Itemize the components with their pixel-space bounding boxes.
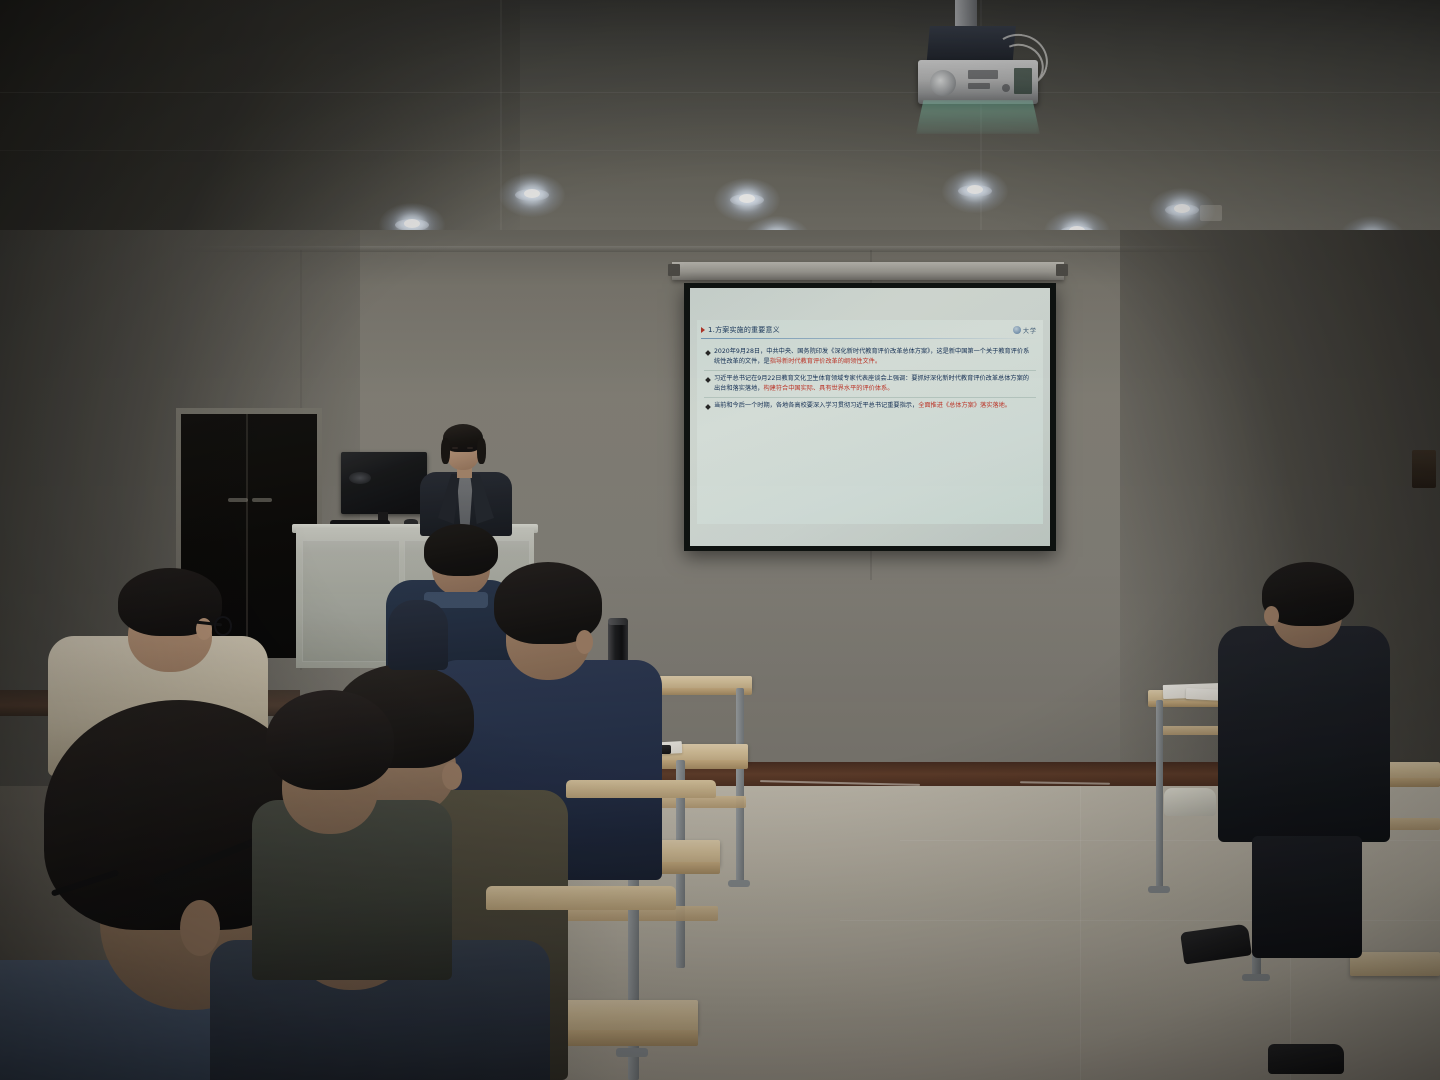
lecture-hall-photo: 1.方案实施的重要意义 大学 2020年9月28日，中共中央、国务院印发《深化新…: [0, 0, 1440, 1080]
ceiling-vent: [1200, 205, 1222, 221]
ceiling-light: [1165, 200, 1199, 216]
presentation-slide: 1.方案实施的重要意义 大学 2020年9月28日，中共中央、国务院印发《深化新…: [697, 320, 1043, 524]
door-handle[interactable]: [252, 498, 272, 502]
slide-header: 1.方案实施的重要意义 大学: [697, 320, 1043, 340]
slide-bullet: 当前和今后一个时期，各地各高校要深入学习贯彻习近平总书记重要指示，全面推进《总体…: [704, 398, 1036, 415]
ceiling-light: [515, 185, 549, 201]
slide-title: 1.方案实施的重要意义: [708, 325, 780, 335]
screen-housing: [672, 262, 1064, 280]
ceiling-light: [395, 215, 429, 231]
presenter-eye: [467, 447, 473, 449]
university-logo: 大学: [1013, 326, 1037, 335]
projector-lens: [930, 70, 956, 96]
slide-bullet-highlight: 指导新时代教育评价改革的纲领性文件。: [770, 358, 881, 365]
slide-bullet-highlight: 全面推进《总体方案》落实落地。: [918, 402, 1011, 409]
desk: [1350, 952, 1440, 976]
projector-light-beam: [916, 100, 1040, 134]
chair-back: [486, 886, 676, 910]
slide-header-rule: [701, 338, 1039, 339]
door-handle[interactable]: [228, 498, 248, 502]
slide-bullet-lead: 当前和今后一个时期，各地各高校要深入学习贯彻习近平总书记重要指示，: [714, 402, 918, 409]
presenter-hair: [477, 438, 486, 464]
slide-bullet-highlight: 构建符合中国实际、具有世界水平的评价体系。: [764, 385, 894, 392]
university-logo-text: 大学: [1023, 326, 1037, 335]
door-seam: [246, 414, 248, 658]
thermos-cap: [608, 618, 628, 625]
presenter-eye: [452, 447, 458, 449]
presenter-hair: [441, 438, 450, 464]
slide-title-marker-icon: [701, 327, 705, 333]
ceiling-light: [730, 190, 764, 206]
glasses-lens: [214, 616, 232, 636]
shoe: [1268, 1044, 1344, 1074]
chair-back: [566, 780, 716, 798]
slide-bullet: 习近平总书记在9月22日教育文化卫生体育领域专家代表座谈会上强调：要抓好深化新时…: [704, 371, 1036, 398]
ceiling-light: [958, 181, 992, 197]
monitor-glare: [349, 472, 371, 484]
university-logo-icon: [1013, 326, 1021, 334]
legs: [1252, 836, 1362, 958]
wall-fixture: [1412, 450, 1436, 488]
slide-bullet: 2020年9月28日，中共中央、国务院印发《深化新时代教育评价改革总体方案》，这…: [704, 344, 1036, 371]
slide-body: 2020年9月28日，中共中央、国务院印发《深化新时代教育评价改革总体方案》，这…: [697, 340, 1043, 415]
shoe: [1164, 788, 1216, 816]
ceiling-shadow: [0, 0, 520, 250]
